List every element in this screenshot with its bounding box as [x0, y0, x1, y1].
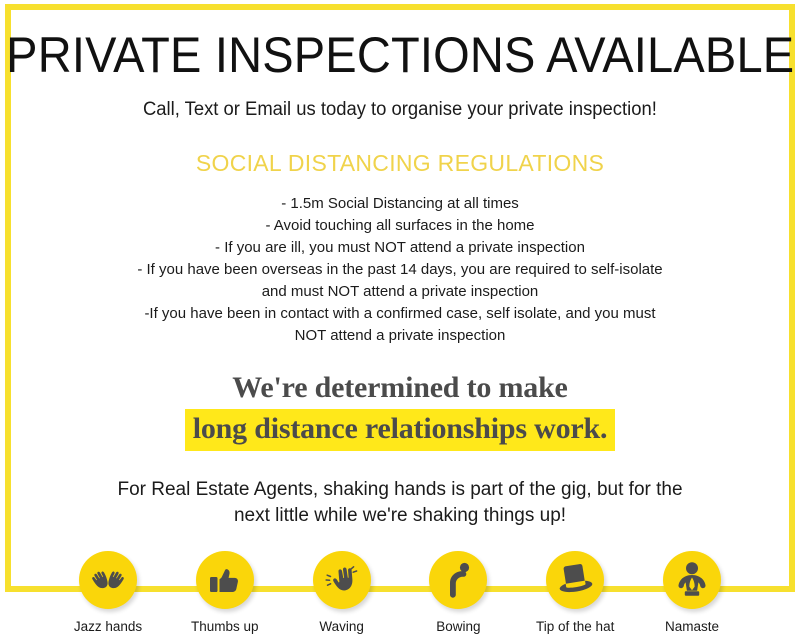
rule-item: -If you have been in contact with a conf…: [137, 303, 662, 325]
namaste-person-icon: [672, 561, 712, 599]
top-hat-icon: [554, 563, 596, 597]
gesture-label: Waving: [319, 619, 364, 634]
waving-hand-icon: [324, 563, 360, 597]
tagline: We're determined to make long distance r…: [185, 369, 616, 451]
gesture-label: Bowing: [436, 619, 480, 634]
rule-item: - 1.5m Social Distancing at all times: [137, 193, 662, 215]
gesture-item-tip-of-the-hat: Tip of the hat: [517, 551, 633, 634]
gesture-item-namaste: Namaste: [634, 551, 750, 634]
poster-frame: PRIVATE INSPECTIONS AVAILABLE Call, Text…: [5, 4, 795, 592]
rules-list: - 1.5m Social Distancing at all times - …: [137, 193, 662, 347]
bowing-person-icon: [443, 562, 473, 598]
gesture-label: Namaste: [665, 619, 719, 634]
page-title: PRIVATE INSPECTIONS AVAILABLE: [6, 30, 794, 81]
rule-item: - Avoid touching all surfaces in the hom…: [137, 215, 662, 237]
gesture-item-bowing: Bowing: [400, 551, 516, 634]
gesture-item-thumbs-up: Thumbs up: [167, 551, 283, 634]
page-subtitle: Call, Text or Email us today to organise…: [143, 99, 657, 122]
rule-item: and must NOT attend a private inspection: [137, 281, 662, 303]
gesture-item-jazz-hands: Jazz hands: [50, 551, 166, 634]
gesture-label: Thumbs up: [191, 619, 259, 634]
tagline-line-1: We're determined to make: [185, 369, 616, 407]
body-copy-line: For Real Estate Agents, shaking hands is…: [117, 477, 682, 503]
poster: PRIVATE INSPECTIONS AVAILABLE Call, Text…: [0, 0, 800, 600]
gesture-label: Tip of the hat: [536, 619, 614, 634]
tagline-line-2-highlighted: long distance relationships work.: [185, 409, 616, 451]
rule-item: - If you are ill, you must NOT attend a …: [137, 237, 662, 259]
rule-item: - If you have been overseas in the past …: [137, 259, 662, 281]
rule-item: NOT attend a private inspection: [137, 325, 662, 347]
body-copy-line: next little while we're shaking things u…: [117, 503, 682, 529]
gesture-label: Jazz hands: [74, 619, 142, 634]
section-heading-social-distancing: SOCIAL DISTANCING REGULATIONS: [196, 150, 604, 177]
gesture-item-waving: Waving: [284, 551, 400, 634]
gesture-icon-row: Jazz hands Thumbs up: [50, 551, 750, 634]
jazz-hands-icon: [88, 565, 128, 595]
body-copy: For Real Estate Agents, shaking hands is…: [117, 477, 682, 528]
thumbs-up-icon: [208, 564, 242, 596]
